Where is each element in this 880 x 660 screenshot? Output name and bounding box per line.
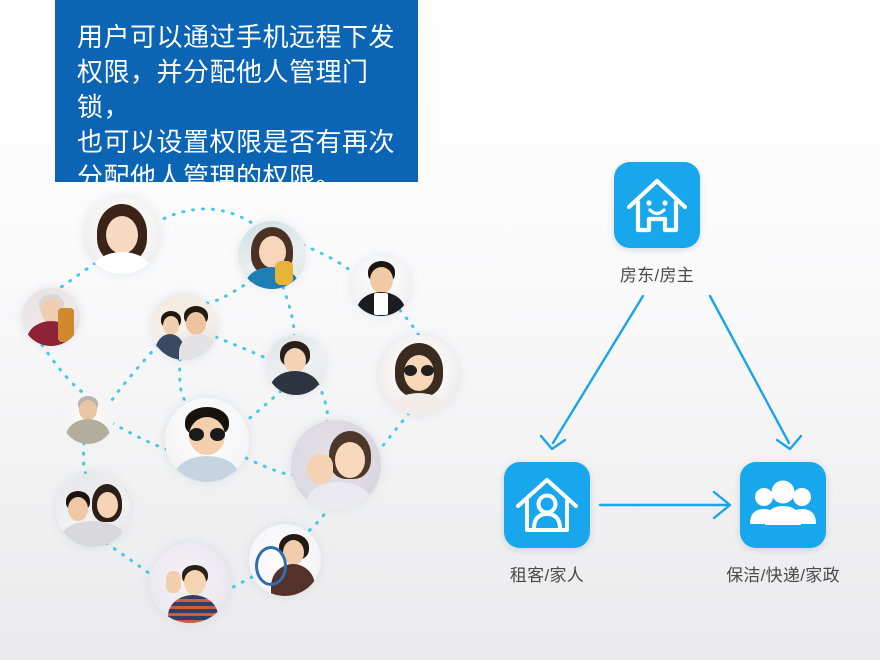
father-body-shape xyxy=(179,334,217,360)
network-avatar-elderly-woman xyxy=(22,288,80,346)
face-shape xyxy=(106,216,138,254)
body-shape xyxy=(93,252,151,274)
network-avatar-woman-on-call xyxy=(266,335,326,395)
network-avatar-boy-thumbs-up xyxy=(150,543,230,623)
photo-boy-with-glasses xyxy=(165,398,249,482)
caption-panel: 用户可以通过手机远程下发 权限，并分配他人管理门锁， 也可以设置权限是否有再次 … xyxy=(55,0,418,182)
body-shape xyxy=(307,482,371,510)
man-face-shape xyxy=(68,497,88,521)
network-avatar-couple xyxy=(56,473,130,547)
face-shape xyxy=(184,570,206,595)
photo-woman-with-phone xyxy=(238,221,306,289)
racket-shape xyxy=(255,546,287,586)
photo-woman-with-glasses xyxy=(379,335,459,415)
shirt-shape xyxy=(374,293,388,315)
photo-sporty-woman xyxy=(249,524,321,596)
network-avatar-woman-with-glasses xyxy=(379,335,459,415)
network-avatar-man-in-suit xyxy=(351,256,411,316)
diagram-node-landlord[interactable]: 房东/房主 xyxy=(614,162,700,286)
photo-woman-ok-gesture xyxy=(291,420,381,510)
group-people-icon xyxy=(740,462,826,548)
network-avatar-smiling-girl xyxy=(83,196,161,274)
face-shape xyxy=(284,348,306,373)
photo-woman-on-call xyxy=(266,335,326,395)
house-person-icon xyxy=(504,462,590,548)
photo-elderly-man xyxy=(62,392,114,444)
photo-couple xyxy=(56,473,130,547)
photo-elderly-woman xyxy=(22,288,80,346)
body-shape xyxy=(391,393,447,415)
diagram-node-tenant[interactable]: 租客/家人 xyxy=(504,462,590,586)
network-avatar-woman-with-phone xyxy=(238,221,306,289)
house-smile-icon xyxy=(614,162,700,248)
network-avatar-elderly-man xyxy=(62,392,114,444)
diagram-node-service[interactable]: 保洁/快递/家政 xyxy=(740,462,826,586)
photo-father-and-son xyxy=(151,294,217,360)
permission-flow-diagram: 房东/房主 租客/家人 xyxy=(460,0,880,660)
arrow-landlord-to-tenant xyxy=(553,296,643,443)
glasses-right-lens xyxy=(210,428,225,441)
photo-boy-thumbs-up xyxy=(150,543,230,623)
photo-man-in-suit xyxy=(351,256,411,316)
body-shape xyxy=(66,419,110,444)
network-avatar-father-and-son xyxy=(151,294,217,360)
glasses-right-lens xyxy=(421,365,434,376)
glasses-left-lens xyxy=(404,365,417,376)
social-network-illustration xyxy=(0,175,480,645)
phone-hand-shape xyxy=(275,261,293,285)
face-shape xyxy=(370,267,393,293)
child-face-shape xyxy=(163,316,179,335)
caption-text: 用户可以通过手机远程下发 权限，并分配他人管理门锁， 也可以设置权限是否有再次 … xyxy=(77,20,396,195)
photo-smiling-girl xyxy=(83,196,161,274)
father-face-shape xyxy=(186,312,206,335)
face-shape xyxy=(335,442,365,478)
scarf-shape xyxy=(58,308,74,342)
network-avatar-boy-with-glasses xyxy=(165,398,249,482)
thumbs-up-hand-shape xyxy=(166,571,181,593)
poster-canvas: 用户可以通过手机远程下发 权限，并分配他人管理门锁， 也可以设置权限是否有再次 … xyxy=(0,0,880,660)
body-shape xyxy=(175,456,239,482)
arrow-landlord-to-service xyxy=(710,296,789,443)
ok-hand-shape xyxy=(307,454,333,484)
glasses-left-lens xyxy=(189,428,204,441)
network-avatar-sporty-woman xyxy=(249,524,321,596)
diagram-label-landlord: 房东/房主 xyxy=(594,261,720,286)
body-shape xyxy=(168,595,218,623)
diagram-label-service: 保洁/快递/家政 xyxy=(705,561,861,586)
diagram-label-tenant: 租客/家人 xyxy=(484,561,610,586)
face-shape xyxy=(79,400,97,420)
woman-face-shape xyxy=(97,492,118,518)
body-shape xyxy=(270,371,320,395)
body-shape xyxy=(60,521,126,547)
network-avatar-woman-ok-gesture xyxy=(291,420,381,510)
